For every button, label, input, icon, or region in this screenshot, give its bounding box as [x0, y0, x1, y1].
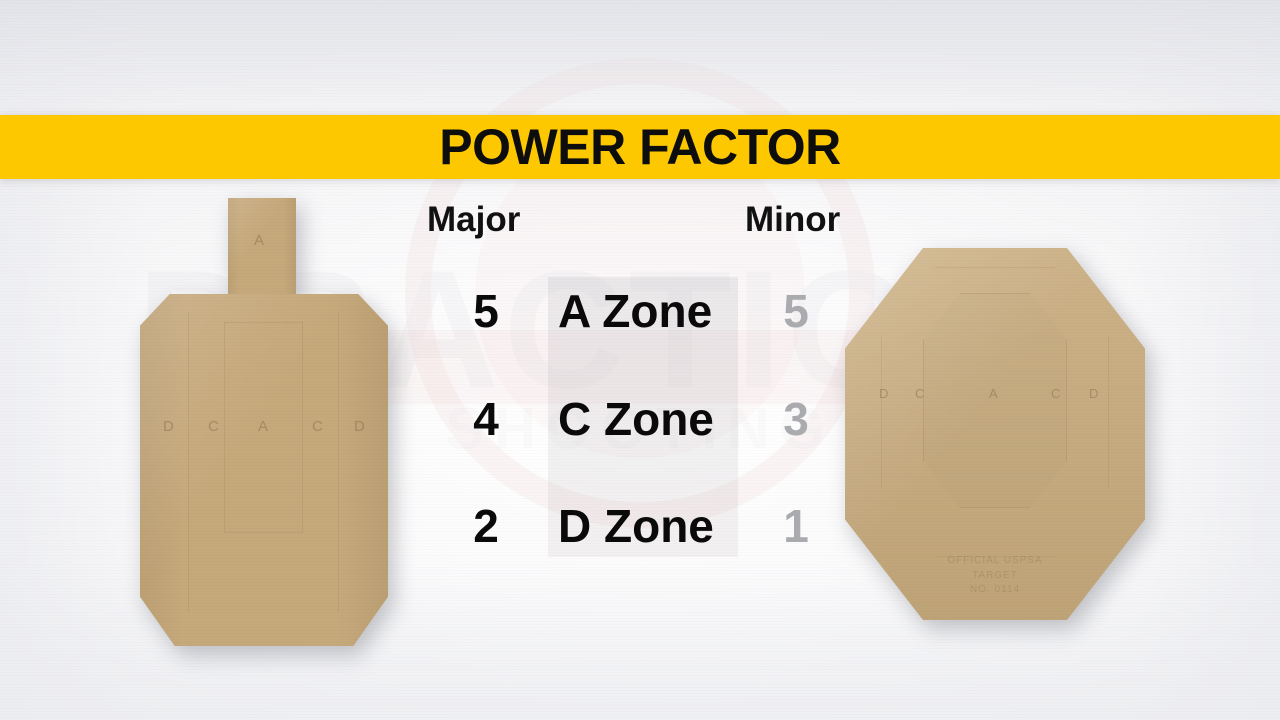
power-factor-table: Major Minor 5 A Zone 5 4 C Zone 3 2 D Zo…	[410, 200, 870, 570]
octagon-footer-text: OFFICIAL USPSA TARGET NO. 0114	[887, 554, 1103, 598]
target-zone-label-a: A	[258, 418, 269, 435]
octagon-zone-label-c-left: C	[915, 386, 925, 401]
cell-minor-value: 5	[772, 288, 820, 334]
cell-zone-label: C Zone	[558, 396, 733, 442]
octagon-footer-line-2: TARGET	[887, 569, 1103, 584]
target-head: A	[228, 198, 296, 302]
cell-zone-label: D Zone	[558, 503, 733, 549]
table-header-row: Major Minor	[410, 200, 870, 256]
target-zone-label-c-left: C	[208, 418, 220, 435]
cell-major-value: 4	[462, 396, 510, 442]
table-row: 2 D Zone 1	[410, 503, 870, 573]
octagon-footer-line-3: NO. 0114	[887, 583, 1103, 598]
cell-minor-value: 3	[772, 396, 820, 442]
cell-major-value: 2	[462, 503, 510, 549]
target-zone-label-d-left: D	[163, 418, 175, 435]
a-zone-edge-left	[224, 322, 225, 532]
octagon-body: D C A C D OFFICIAL USPSA TARGET NO. 0114	[845, 248, 1145, 620]
column-header-minor: Minor	[745, 200, 840, 240]
octagon-zone-label-d-right: D	[1089, 386, 1099, 401]
table-row: 4 C Zone 3	[410, 396, 870, 466]
octagon-zone-label-a: A	[989, 386, 999, 401]
classic-octagon-target: D C A C D OFFICIAL USPSA TARGET NO. 0114	[845, 248, 1145, 620]
cell-major-value: 5	[462, 288, 510, 334]
a-zone-edge-right	[302, 322, 303, 532]
target-torso: D C A C D	[140, 294, 388, 646]
zone-divider-left	[188, 312, 189, 612]
target-zone-label-d-right: D	[354, 418, 366, 435]
table-row: 5 A Zone 5	[410, 288, 870, 358]
column-header-major: Major	[427, 200, 520, 240]
cell-zone-label: A Zone	[558, 288, 733, 334]
zone-divider-right	[338, 312, 339, 612]
a-zone-edge-bottom	[224, 532, 303, 533]
cell-minor-value: 1	[772, 503, 820, 549]
a-zone-edge-top	[224, 322, 303, 323]
page-title: POWER FACTOR	[439, 122, 840, 172]
metric-silhouette-target: A D C A C D	[140, 196, 420, 656]
octagon-footer-line-1: OFFICIAL USPSA	[887, 554, 1103, 569]
octagon-zone-label-c-right: C	[1051, 386, 1061, 401]
screenshot-root: PRACTICAL SHOOTING A D C A C D D C	[0, 0, 1280, 720]
target-head-zone-label-a: A	[254, 232, 265, 249]
target-zone-label-c-right: C	[312, 418, 324, 435]
octagon-zone-label-d-left: D	[879, 386, 889, 401]
title-banner: POWER FACTOR	[0, 115, 1280, 179]
